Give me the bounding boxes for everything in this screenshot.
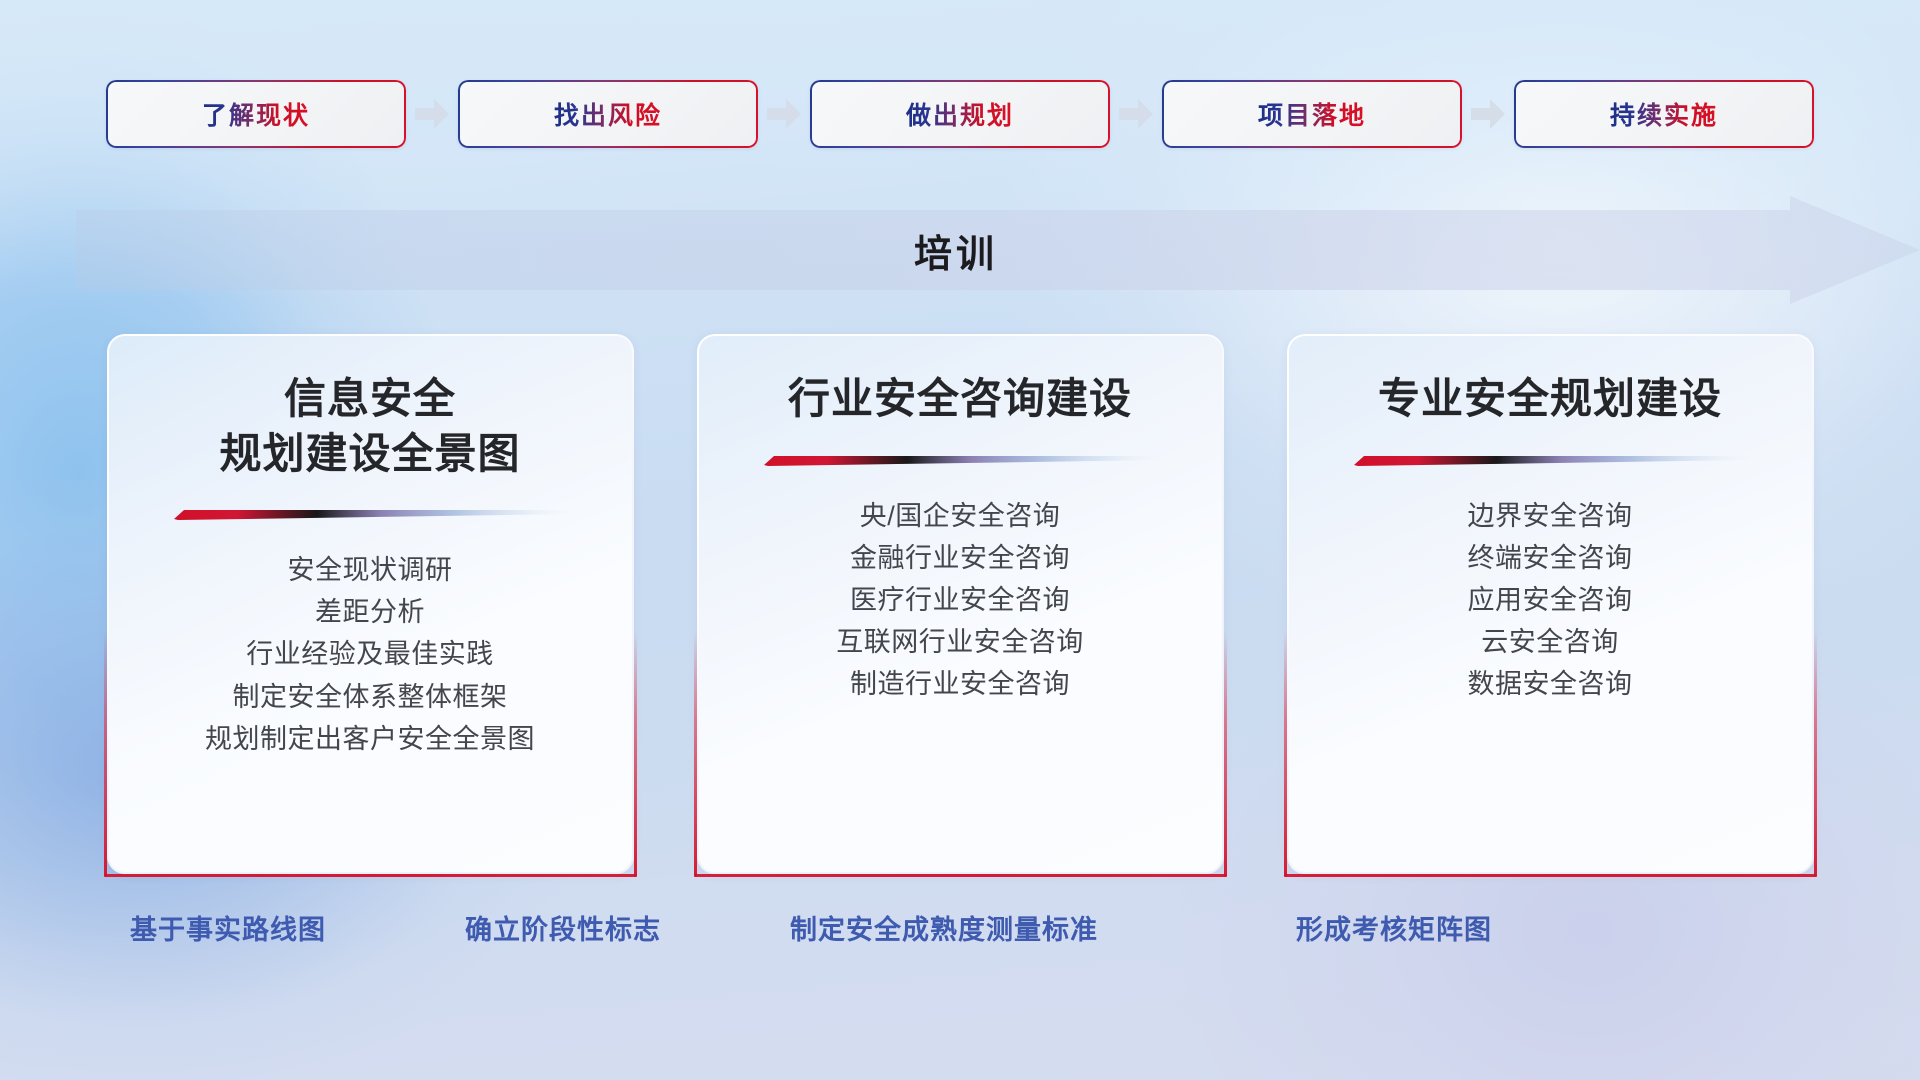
card-list-item: 央/国企安全咨询 [860,495,1061,537]
footer-label-row: 基于事实路线图确立阶段性标志制定安全成熟度测量标准形成考核矩阵图 [0,908,1920,964]
process-step-row: 了解现状找出风险做出规划项目落地持续实施 [0,76,1920,152]
card-list: 边界安全咨询终端安全咨询应用安全咨询云安全咨询数据安全咨询 [1468,495,1633,706]
arrow-right-icon [1119,99,1153,129]
service-card-2[interactable]: 行业安全咨询建设央/国企安全咨询金融行业安全咨询医疗行业安全咨询互联网行业安全咨… [697,334,1224,874]
arrow-right-icon [415,99,449,129]
card-content: 信息安全 规划建设全景图安全现状调研差距分析行业经验及最佳实践制定安全体系整体框… [107,334,634,874]
card-list-item: 制造行业安全咨询 [850,663,1070,705]
card-title: 行业安全咨询建设 [788,372,1132,427]
footer-label-3: 制定安全成熟度测量标准 [790,908,1098,947]
card-row: 信息安全 规划建设全景图安全现状调研差距分析行业经验及最佳实践制定安全体系整体框… [0,334,1920,882]
card-list-item: 规划制定出客户安全全景图 [205,718,535,760]
step-separator-3 [1110,95,1162,133]
card-edge-bottom [1284,874,1817,877]
card-title: 信息安全 规划建设全景图 [219,372,520,481]
step-separator-4 [1462,95,1514,133]
service-card-1[interactable]: 信息安全 规划建设全景图安全现状调研差距分析行业经验及最佳实践制定安全体系整体框… [107,334,634,874]
process-step-3[interactable]: 做出规划 [810,80,1110,148]
card-edge-right [1224,631,1227,877]
footer-label-4: 形成考核矩阵图 [1296,908,1492,947]
card-list-item: 行业经验及最佳实践 [246,633,494,675]
card-list-item: 应用安全咨询 [1468,579,1633,621]
card-list: 央/国企安全咨询金融行业安全咨询医疗行业安全咨询互联网行业安全咨询制造行业安全咨… [836,495,1084,706]
card-list-item: 互联网行业安全咨询 [836,621,1084,663]
banner-title: 培训 [76,196,1836,304]
process-step-label: 做出规划 [906,96,1014,132]
process-step-label: 了解现状 [202,96,310,132]
card-title: 专业安全规划建设 [1378,372,1722,427]
card-list: 安全现状调研差距分析行业经验及最佳实践制定安全体系整体框架规划制定出客户安全全景… [205,549,535,760]
process-step-2[interactable]: 找出风险 [458,80,758,148]
card-list-item: 制定安全体系整体框架 [233,676,508,718]
card-list-item: 金融行业安全咨询 [850,537,1070,579]
card-edge-bottom [104,874,637,877]
process-step-4[interactable]: 项目落地 [1162,80,1462,148]
process-step-label: 找出风险 [554,96,662,132]
footer-label-2: 确立阶段性标志 [465,908,661,947]
training-banner: 培训 [76,196,1920,304]
gradient-rule-icon [758,453,1162,469]
step-separator-2 [758,95,810,133]
footer-label-1: 基于事实路线图 [130,908,326,947]
card-list-item: 云安全咨询 [1481,621,1619,663]
process-step-1[interactable]: 了解现状 [106,80,406,148]
card-list-item: 差距分析 [315,591,425,633]
process-step-5[interactable]: 持续实施 [1514,80,1814,148]
gradient-rule-icon [168,507,572,523]
service-card-3[interactable]: 专业安全规划建设边界安全咨询终端安全咨询应用安全咨询云安全咨询数据安全咨询 [1287,334,1814,874]
step-separator-1 [406,95,458,133]
process-step-label: 项目落地 [1258,96,1366,132]
gradient-rule-icon [1348,453,1752,469]
card-edge-bottom [694,874,1227,877]
arrow-right-icon [767,99,801,129]
card-list-item: 数据安全咨询 [1468,663,1633,705]
card-list-item: 终端安全咨询 [1468,537,1633,579]
card-content: 行业安全咨询建设央/国企安全咨询金融行业安全咨询医疗行业安全咨询互联网行业安全咨… [697,334,1224,874]
card-list-item: 安全现状调研 [288,549,453,591]
card-list-item: 医疗行业安全咨询 [850,579,1070,621]
card-edge-right [1814,631,1817,877]
card-list-item: 边界安全咨询 [1468,495,1633,537]
card-content: 专业安全规划建设边界安全咨询终端安全咨询应用安全咨询云安全咨询数据安全咨询 [1287,334,1814,874]
card-edge-right [634,631,637,877]
process-step-label: 持续实施 [1610,96,1718,132]
arrow-right-icon [1471,99,1505,129]
